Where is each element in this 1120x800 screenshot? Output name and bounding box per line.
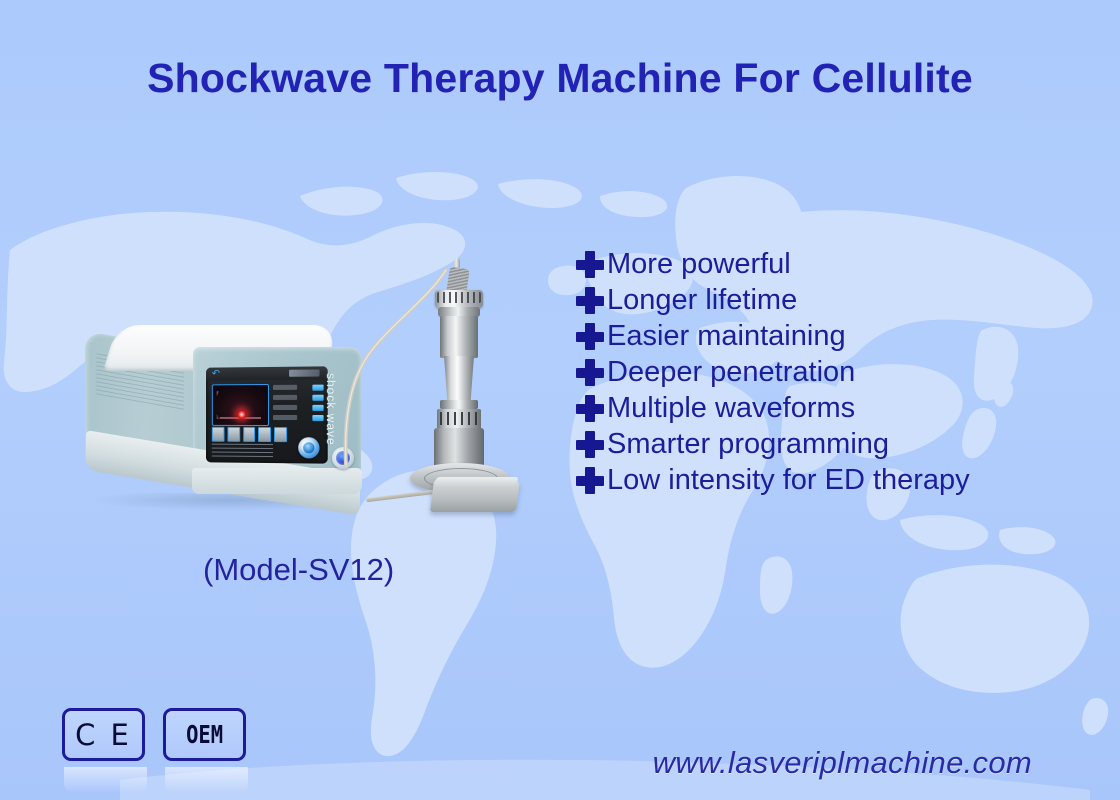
parameter-row[interactable] xyxy=(271,385,324,391)
screen-waveform-preview xyxy=(212,384,269,426)
screen-mode-thumbnails[interactable] xyxy=(212,427,287,441)
mode-thumbnail[interactable] xyxy=(243,427,256,442)
feature-label: Multiple waveforms xyxy=(607,394,855,423)
parameter-label xyxy=(273,405,297,410)
feature-item: Multiple waveforms xyxy=(573,391,970,426)
mode-thumbnail[interactable] xyxy=(258,427,271,442)
handpiece-tapered-body xyxy=(444,356,474,404)
plus-icon xyxy=(573,248,607,282)
parameter-label xyxy=(273,385,297,390)
mode-thumbnail[interactable] xyxy=(274,427,287,442)
foot-pedal-surface[interactable] xyxy=(433,477,519,487)
handpiece-mid-ring xyxy=(440,400,478,409)
plus-icon xyxy=(573,284,607,318)
plus-icon xyxy=(573,320,607,354)
feature-label: Easier maintaining xyxy=(607,322,846,351)
focus-point-icon xyxy=(237,410,246,419)
parameter-row[interactable] xyxy=(271,415,324,421)
feature-item: Longer lifetime xyxy=(573,283,970,318)
parameter-row[interactable] xyxy=(271,395,324,401)
feature-label: Low intensity for ED therapy xyxy=(607,466,970,495)
ce-badge: C E xyxy=(62,708,145,761)
screen-title-placeholder xyxy=(289,369,319,376)
feature-item: Easier maintaining xyxy=(573,319,970,354)
screen-description-text xyxy=(212,444,273,460)
plus-icon xyxy=(573,392,607,426)
plus-icon xyxy=(573,464,607,498)
machine-base-front xyxy=(192,468,362,494)
plus-icon xyxy=(573,428,607,462)
shockwave-handpiece xyxy=(404,258,549,520)
plus-icon xyxy=(573,356,607,390)
feature-item: Deeper penetration xyxy=(573,355,970,390)
feature-list: More powerful Longer lifetime Easier mai… xyxy=(573,247,970,499)
poster-canvas: Shockwave Therapy Machine For Cellulite … xyxy=(0,0,1120,800)
oem-badge-label: OEM xyxy=(186,720,223,749)
feature-label: Deeper penetration xyxy=(607,358,855,387)
feature-item: Smarter programming xyxy=(573,427,970,462)
feature-label: Smarter programming xyxy=(607,430,889,459)
website-watermark: www.lasveriplmachine.com xyxy=(653,745,1032,781)
handpiece-top-slots xyxy=(437,292,481,303)
oem-badge: OEM xyxy=(163,708,246,761)
feature-label: More powerful xyxy=(607,250,791,279)
handpiece-upper-barrel xyxy=(440,316,478,358)
screen-start-button[interactable] xyxy=(298,437,319,458)
parameter-label xyxy=(273,395,297,400)
mode-thumbnail[interactable] xyxy=(212,427,224,442)
parameter-row[interactable] xyxy=(271,405,324,411)
page-title: Shockwave Therapy Machine For Cellulite xyxy=(0,55,1120,102)
feature-item: More powerful xyxy=(573,247,970,282)
model-caption: (Model-SV12) xyxy=(203,552,394,588)
parameter-label xyxy=(273,415,297,420)
mode-thumbnail[interactable] xyxy=(227,427,240,442)
certification-badges: C E OEM xyxy=(62,708,246,761)
back-arrow-icon[interactable]: ↶ xyxy=(212,369,223,378)
ce-badge-label: C E xyxy=(75,718,132,752)
handpiece-vent-band xyxy=(437,409,481,429)
feature-label: Longer lifetime xyxy=(607,286,797,315)
machine-touchscreen[interactable]: ↶ xyxy=(206,366,328,463)
screen-parameter-panel xyxy=(271,384,324,425)
feature-item: Low intensity for ED therapy xyxy=(573,463,970,498)
